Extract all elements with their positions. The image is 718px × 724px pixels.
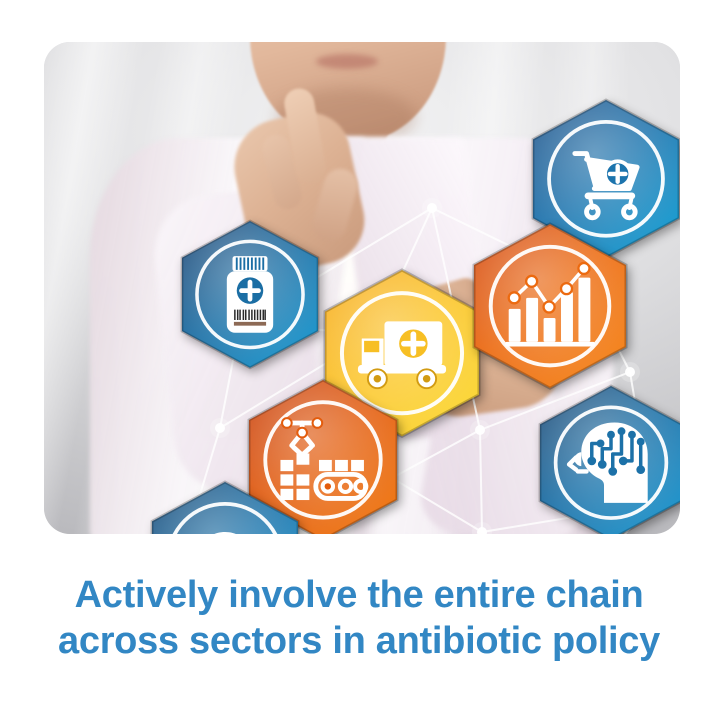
caption: Actively involve the entire chain across… — [0, 572, 718, 664]
medicine-bottle-barcode-icon — [227, 257, 272, 333]
mesh-edge — [392, 478, 482, 532]
hexagon-data-security[interactable] — [152, 482, 298, 534]
mesh-node — [427, 203, 437, 213]
hexagon-artificial-intelligence[interactable] — [540, 386, 680, 534]
photo-card — [44, 42, 680, 534]
mesh-edge — [480, 430, 482, 532]
hexagon-data-analytics[interactable] — [474, 224, 626, 388]
caption-line-2: across sectors in antibiotic policy — [0, 618, 718, 664]
mesh-edge — [392, 430, 480, 478]
hexagon-medicine-production[interactable] — [182, 221, 318, 368]
infographic-root: Actively involve the entire chain across… — [0, 0, 718, 724]
caption-line-1: Actively involve the entire chain — [0, 572, 718, 618]
mesh-node — [625, 367, 635, 377]
mesh-node — [215, 423, 225, 433]
